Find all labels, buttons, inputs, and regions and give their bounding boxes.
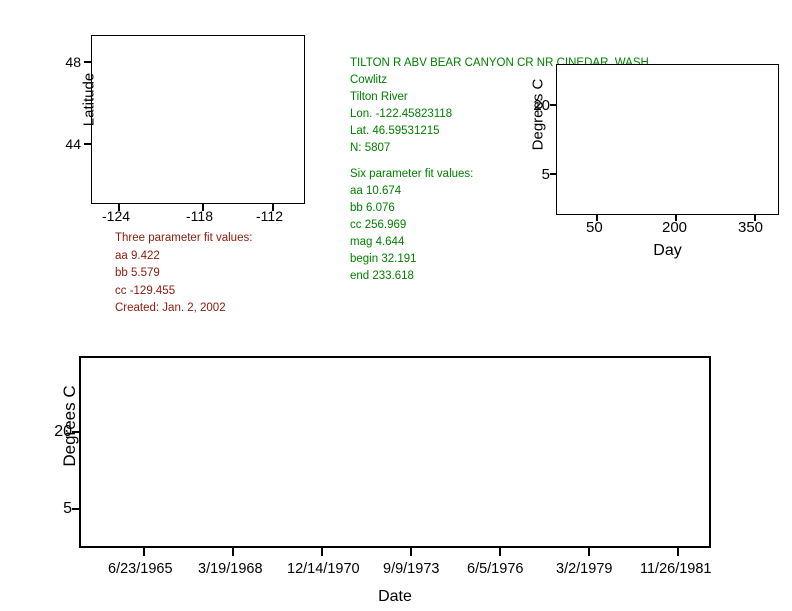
map-x-tick-112: -112 <box>256 208 283 224</box>
seasonal-y-tickmark-5 <box>550 173 556 175</box>
map-x-tick-118: -118 <box>186 208 213 224</box>
info-spacer <box>350 157 550 166</box>
series-y-tick-20: 20 <box>32 423 72 441</box>
seasonal-x-tick-350: 350 <box>738 219 763 236</box>
three-param-cc: cc -129.455 <box>115 283 335 301</box>
series-x-tickmark-4 <box>499 548 501 556</box>
series-x-tick-2: 12/14/1970 <box>287 561 360 577</box>
created-date: Created: Jan. 2, 2002 <box>115 300 335 318</box>
series-x-tickmark-5 <box>588 548 590 556</box>
map-y-tickmark-48 <box>84 61 91 63</box>
series-x-tickmark-1 <box>232 548 234 556</box>
series-x-tickmark-0 <box>143 548 145 556</box>
seasonal-cycle-frame <box>556 64 779 215</box>
series-x-tick-4: 6/5/1976 <box>467 561 523 577</box>
seasonal-x-tick-50: 50 <box>586 219 603 236</box>
map-x-tickmark-112 <box>272 204 274 211</box>
series-x-tickmark-3 <box>410 548 412 556</box>
location-map-frame <box>91 35 305 204</box>
seasonal-x-tickmark-350 <box>754 215 756 221</box>
series-y-tickmark-5 <box>72 508 79 510</box>
station-title: TILTON R ABV BEAR CANYON CR NR CINEDAR, … <box>350 55 550 72</box>
station-latitude: Lat. 46.59531215 <box>350 123 550 140</box>
six-param-cc: cc 256.969 <box>350 217 550 234</box>
series-x-tick-5: 3/2/1979 <box>556 561 612 577</box>
seasonal-cycle-panel: Degrees C Day <box>556 64 779 215</box>
location-map-panel: Latitude <box>91 35 305 204</box>
series-x-axis-label: Date <box>79 588 711 606</box>
map-y-tick-44: 44 <box>43 136 81 152</box>
three-param-aa: aa 9.422 <box>115 248 335 266</box>
series-x-tick-0: 6/23/1965 <box>108 561 173 577</box>
series-x-tick-6: 11/26/1981 <box>640 561 712 577</box>
time-series-panel: Degrees C Date <box>79 356 711 548</box>
time-series-frame <box>79 356 711 548</box>
seasonal-y-tickmark-20 <box>550 104 556 106</box>
six-param-mag: mag 4.644 <box>350 234 550 251</box>
map-y-tickmark-44 <box>84 143 91 145</box>
map-x-tickmark-124 <box>118 204 120 211</box>
series-x-tick-1: 3/19/1968 <box>198 561 263 577</box>
seasonal-x-tick-200: 200 <box>662 219 687 236</box>
map-x-tick-124: -124 <box>102 208 130 224</box>
seasonal-x-tickmark-50 <box>596 215 598 221</box>
seasonal-y-tick-20: 20 <box>510 97 550 114</box>
three-param-bb: bb 5.579 <box>115 265 335 283</box>
six-param-end: end 233.618 <box>350 268 550 285</box>
series-y-tick-5: 5 <box>32 500 72 518</box>
three-param-info-block: Three parameter fit values: aa 9.422 bb … <box>115 230 335 318</box>
three-param-heading: Three parameter fit values: <box>115 230 335 248</box>
station-observation-count: N: 5807 <box>350 140 550 157</box>
series-x-tickmark-2 <box>321 548 323 556</box>
series-y-tickmark-20 <box>72 431 79 433</box>
six-param-begin: begin 32.191 <box>350 251 550 268</box>
seasonal-y-tick-5: 5 <box>510 166 550 183</box>
seasonal-y-axis-label: Degrees C <box>530 55 547 175</box>
map-x-tickmark-118 <box>202 204 204 211</box>
six-param-aa: aa 10.674 <box>350 183 550 200</box>
seasonal-x-tickmark-200 <box>675 215 677 221</box>
series-x-tick-3: 9/9/1973 <box>383 561 439 577</box>
six-param-bb: bb 6.076 <box>350 200 550 217</box>
series-x-tickmark-6 <box>677 548 679 556</box>
station-county: Cowlitz <box>350 72 550 89</box>
map-y-axis-label: Latitude <box>81 40 98 160</box>
map-y-tick-48: 48 <box>43 54 81 70</box>
seasonal-x-axis-label: Day <box>556 242 779 260</box>
